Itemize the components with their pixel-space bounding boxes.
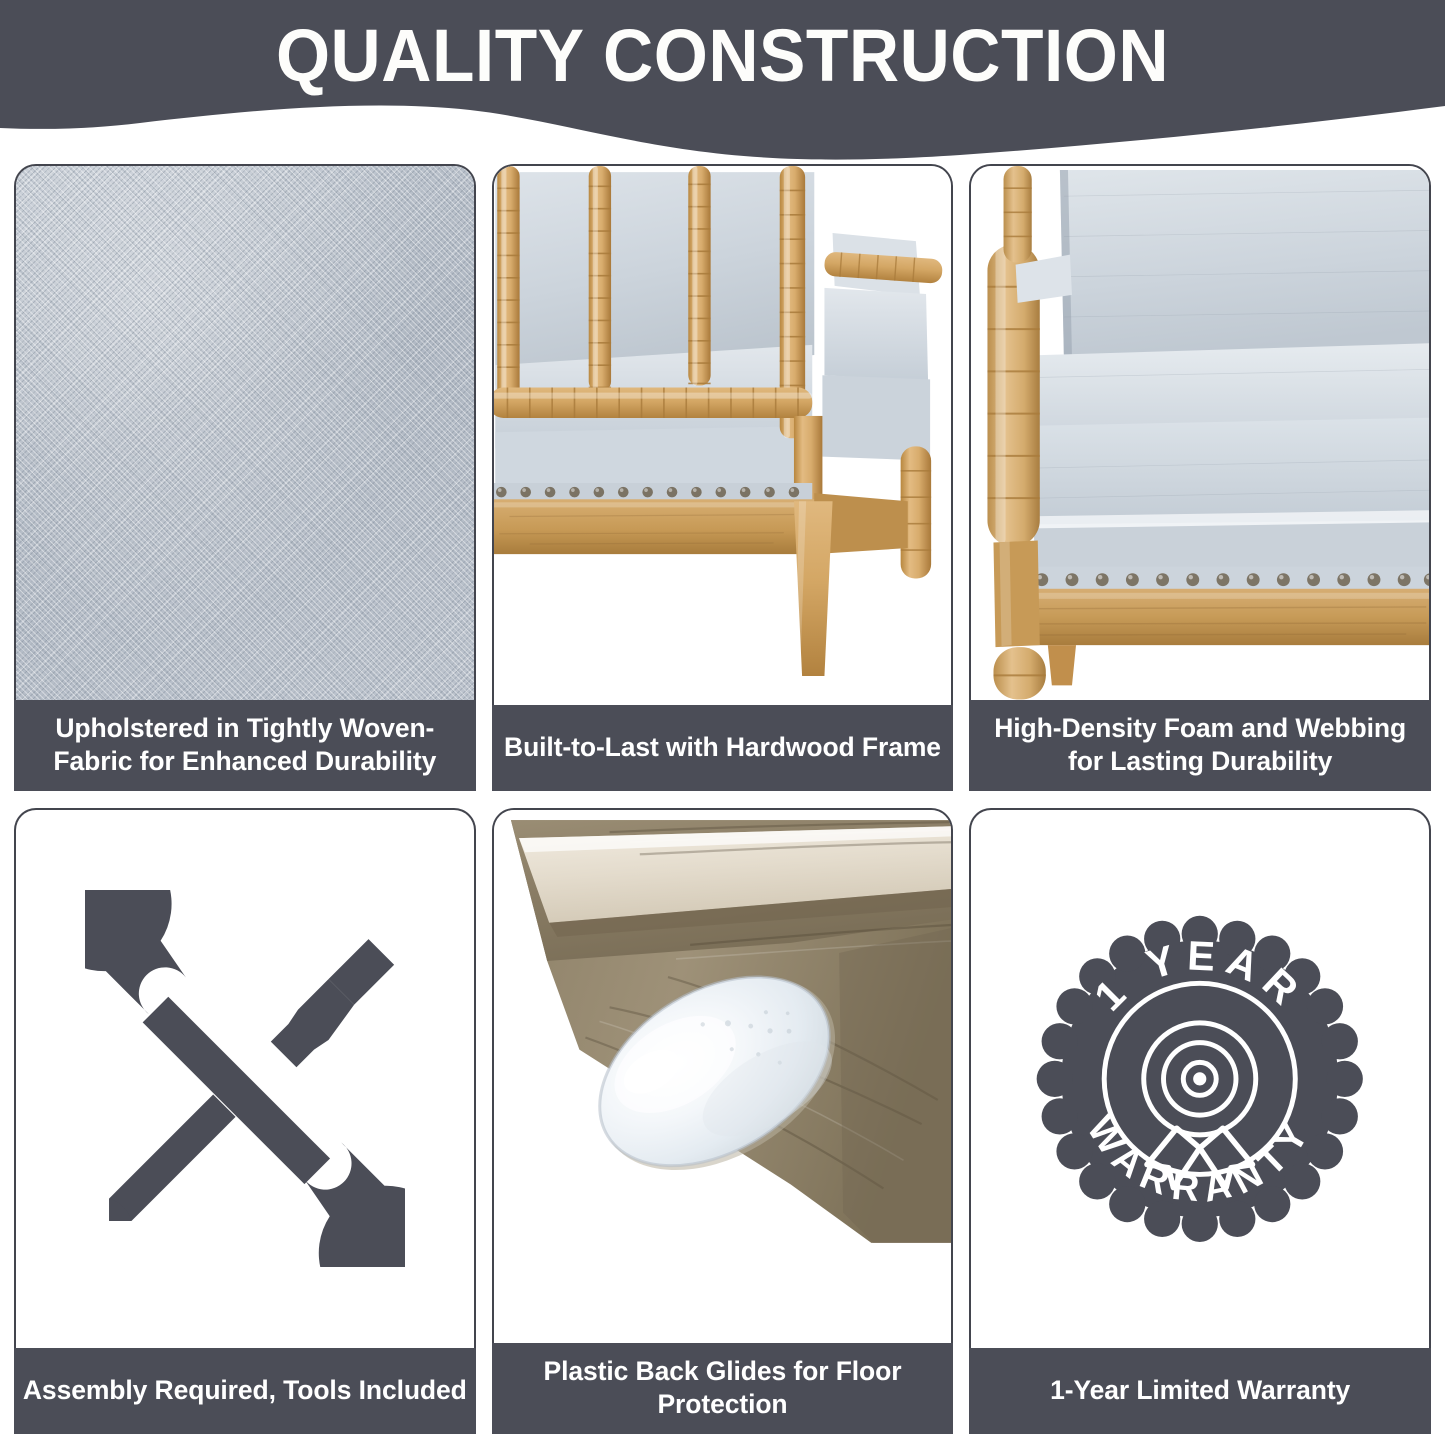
feature-grid: Upholstered in Tightly Woven-Fabric for … (14, 164, 1431, 1434)
feature-caption-assembly: Assembly Required, Tools Included (14, 1348, 476, 1434)
feature-caption-warranty: 1-Year Limited Warranty (969, 1348, 1431, 1434)
warranty-badge-media: 1 YEAR WARRANTY (969, 808, 1431, 1349)
badge-rosette-center (1194, 1072, 1207, 1085)
feature-card-assembly: Assembly Required, Tools Included (14, 808, 476, 1435)
woven-fabric-texture (16, 166, 474, 700)
plastic-glide-media (492, 808, 954, 1344)
fabric-swatch-media (14, 164, 476, 700)
assembly-tools-media (14, 808, 476, 1349)
hardwood-frame-media (492, 164, 954, 705)
infographic-page: QUALITY CONSTRUCTION Upholstered in Tigh… (0, 0, 1445, 1445)
page-title: QUALITY CONSTRUCTION (43, 8, 1401, 104)
feature-card-fabric: Upholstered in Tightly Woven-Fabric for … (14, 164, 476, 791)
plastic-glide-photo (494, 810, 952, 1344)
feature-caption-foam: High-Density Foam and Webbing for Lastin… (969, 700, 1431, 791)
feature-caption-hardwood: Built-to-Last with Hardwood Frame (492, 705, 954, 791)
foam-cushion-media (969, 164, 1431, 700)
spindle-chair-photo (494, 166, 952, 705)
feature-card-glides: Plastic Back Glides for Floor Protection (492, 808, 954, 1435)
warranty-badge-icon: 1 YEAR WARRANTY (1035, 885, 1365, 1273)
feature-card-hardwood: Built-to-Last with Hardwood Frame (492, 164, 954, 791)
feature-card-warranty: 1 YEAR WARRANTY 1-Year Limited Warranty (969, 808, 1431, 1435)
feature-caption-glides: Plastic Back Glides for Floor Protection (492, 1343, 954, 1434)
wrench-screwdriver-icon (85, 890, 405, 1267)
cushion-closeup-photo (971, 166, 1429, 700)
feature-card-foam: High-Density Foam and Webbing for Lastin… (969, 164, 1431, 791)
feature-caption-fabric: Upholstered in Tightly Woven-Fabric for … (14, 700, 476, 791)
header-banner: QUALITY CONSTRUCTION (0, 0, 1445, 165)
